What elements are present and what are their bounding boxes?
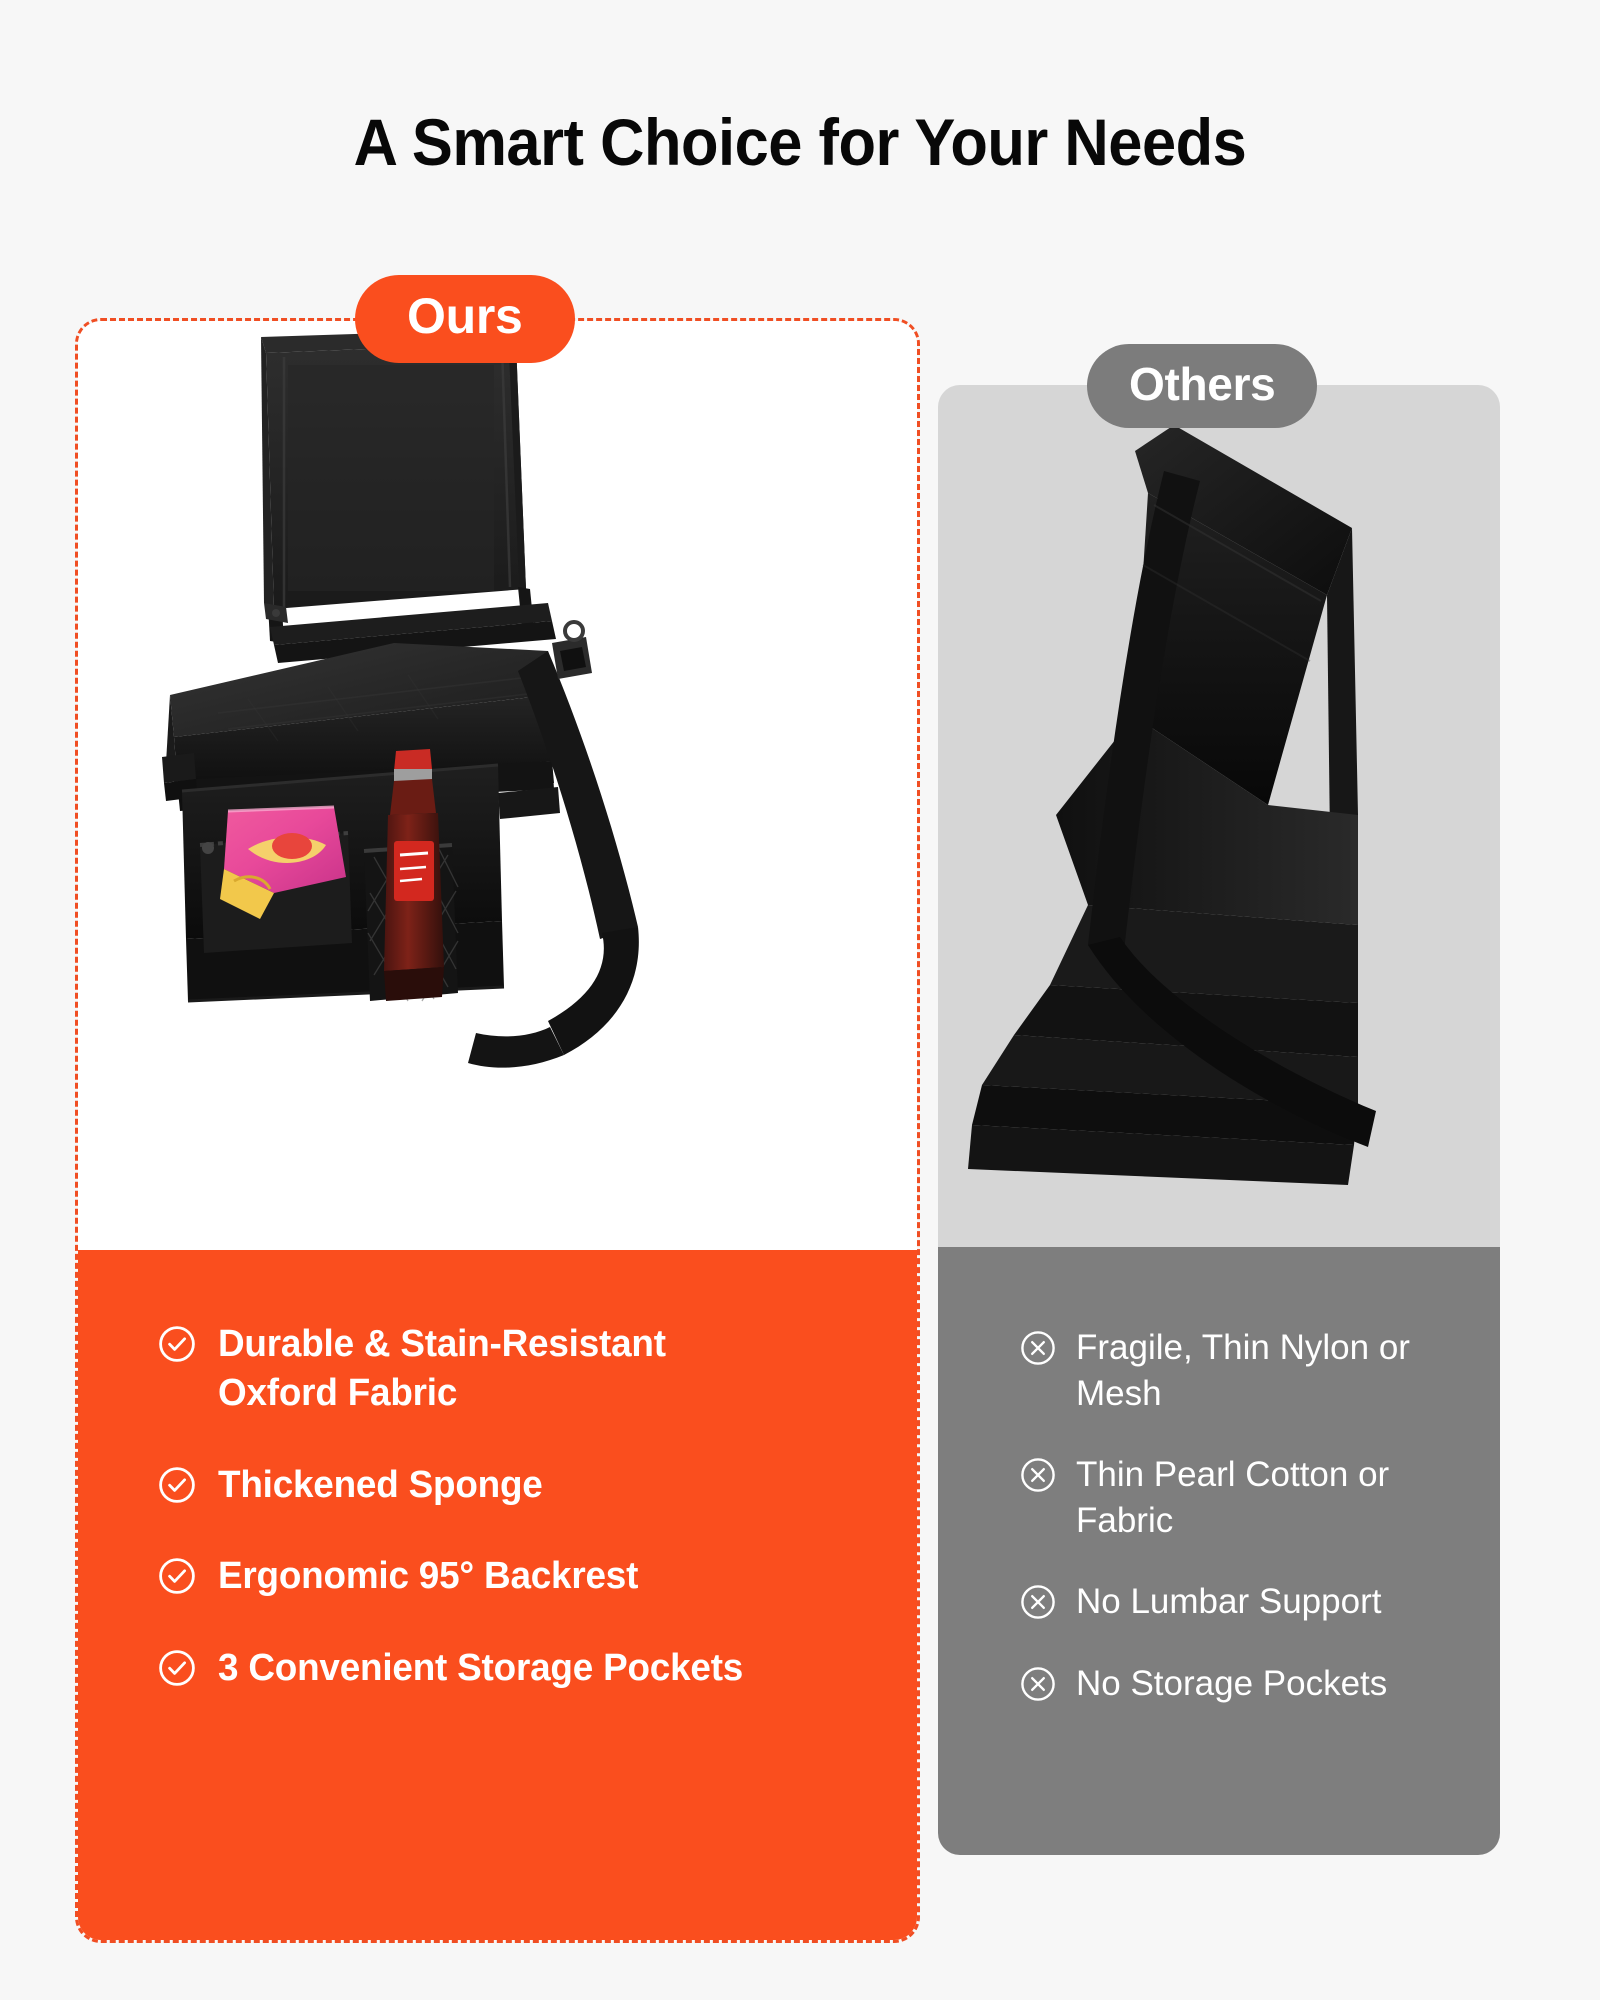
ours-badge-label: Ours [407, 288, 523, 344]
list-item: No Storage Pockets [1020, 1661, 1480, 1707]
list-item-label: Thin Pearl Cotton or Fabric [1076, 1452, 1480, 1543]
ours-product-image: VEVOR [78, 321, 917, 1250]
list-item: Thickened Sponge [158, 1461, 798, 1510]
others-feature-list: Fragile, Thin Nylon or Mesh Thin Pearl C… [1020, 1325, 1480, 1707]
list-item-label: Durable & Stain-Resistant Oxford Fabric [218, 1320, 781, 1419]
list-item: Fragile, Thin Nylon or Mesh [1020, 1325, 1480, 1416]
x-circle-icon [1020, 1457, 1056, 1498]
check-circle-icon [158, 1325, 196, 1368]
x-circle-icon [1020, 1584, 1056, 1625]
list-item: 3 Convenient Storage Pockets [158, 1644, 798, 1693]
list-item: Durable & Stain-Resistant Oxford Fabric [158, 1320, 798, 1419]
others-badge-label: Others [1129, 358, 1275, 410]
list-item-label: Ergonomic 95° Backrest [218, 1552, 638, 1601]
ours-column: VEVOR [75, 318, 920, 1943]
list-item-label: 3 Convenient Storage Pockets [218, 1644, 743, 1693]
others-chair-illustration [938, 385, 1500, 1247]
list-item: No Lumbar Support [1020, 1579, 1480, 1625]
x-circle-icon [1020, 1666, 1056, 1707]
others-badge: Others [1087, 344, 1317, 428]
check-circle-icon [158, 1466, 196, 1509]
check-circle-icon [158, 1557, 196, 1600]
ours-chair-illustration: VEVOR [78, 321, 920, 1250]
list-item: Ergonomic 95° Backrest [158, 1552, 798, 1601]
check-circle-icon [158, 1649, 196, 1692]
others-product-image [938, 385, 1500, 1247]
list-item-label: Thickened Sponge [218, 1461, 543, 1510]
ours-feature-list: Durable & Stain-Resistant Oxford Fabric … [158, 1320, 798, 1693]
ours-badge: Ours [355, 275, 575, 363]
list-item-label: No Storage Pockets [1076, 1661, 1387, 1707]
list-item-label: No Lumbar Support [1076, 1579, 1381, 1625]
page-title: A Smart Choice for Your Needs [56, 104, 1544, 180]
list-item: Thin Pearl Cotton or Fabric [1020, 1452, 1480, 1543]
list-item-label: Fragile, Thin Nylon or Mesh [1076, 1325, 1480, 1416]
x-circle-icon [1020, 1330, 1056, 1371]
comparison-infographic: A Smart Choice for Your Needs [0, 0, 1600, 2000]
